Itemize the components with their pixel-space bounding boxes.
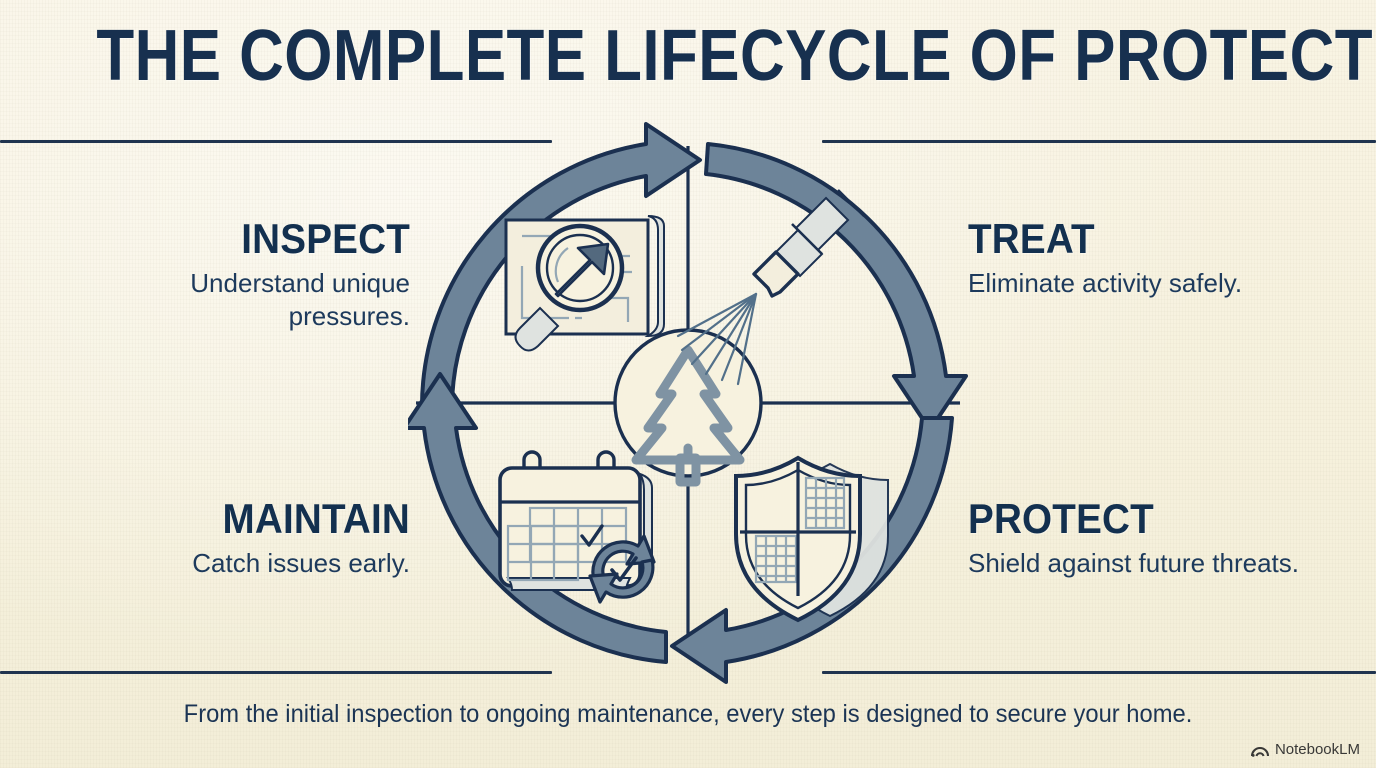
magnifier-blueprint-icon [506, 216, 664, 351]
step-title-inspect: INSPECT [143, 218, 410, 261]
step-title-maintain: MAINTAIN [143, 498, 410, 541]
lifecycle-diagram: .arrowShape{fill:#6d8499;stroke:#1b3050;… [408, 118, 968, 688]
step-title-protect: PROTECT [968, 498, 1318, 541]
step-label-inspect: INSPECT Understand unique pressures. [120, 218, 410, 333]
notebooklm-label: NotebookLM [1275, 741, 1360, 758]
step-description-inspect: Understand unique pressures. [120, 267, 410, 334]
notebooklm-arc-icon [1251, 742, 1269, 757]
notebooklm-watermark: NotebookLM [1251, 741, 1360, 758]
calendar-refresh-icon [500, 452, 654, 602]
step-label-maintain: MAINTAIN Catch issues early. [120, 498, 410, 580]
center-hub [615, 330, 761, 482]
footer-caption: From the initial inspection to ongoing m… [34, 700, 1341, 729]
step-description-protect: Shield against future threats. [968, 547, 1348, 580]
step-label-treat: TREAT Eliminate activity safely. [968, 218, 1328, 300]
step-title-treat: TREAT [968, 218, 1299, 261]
step-label-protect: PROTECT Shield against future threats. [968, 498, 1348, 580]
step-description-treat: Eliminate activity safely. [968, 267, 1328, 300]
page-title: THE COMPLETE LIFECYCLE OF PROTECTION [96, 20, 1279, 92]
step-description-maintain: Catch issues early. [120, 547, 410, 580]
